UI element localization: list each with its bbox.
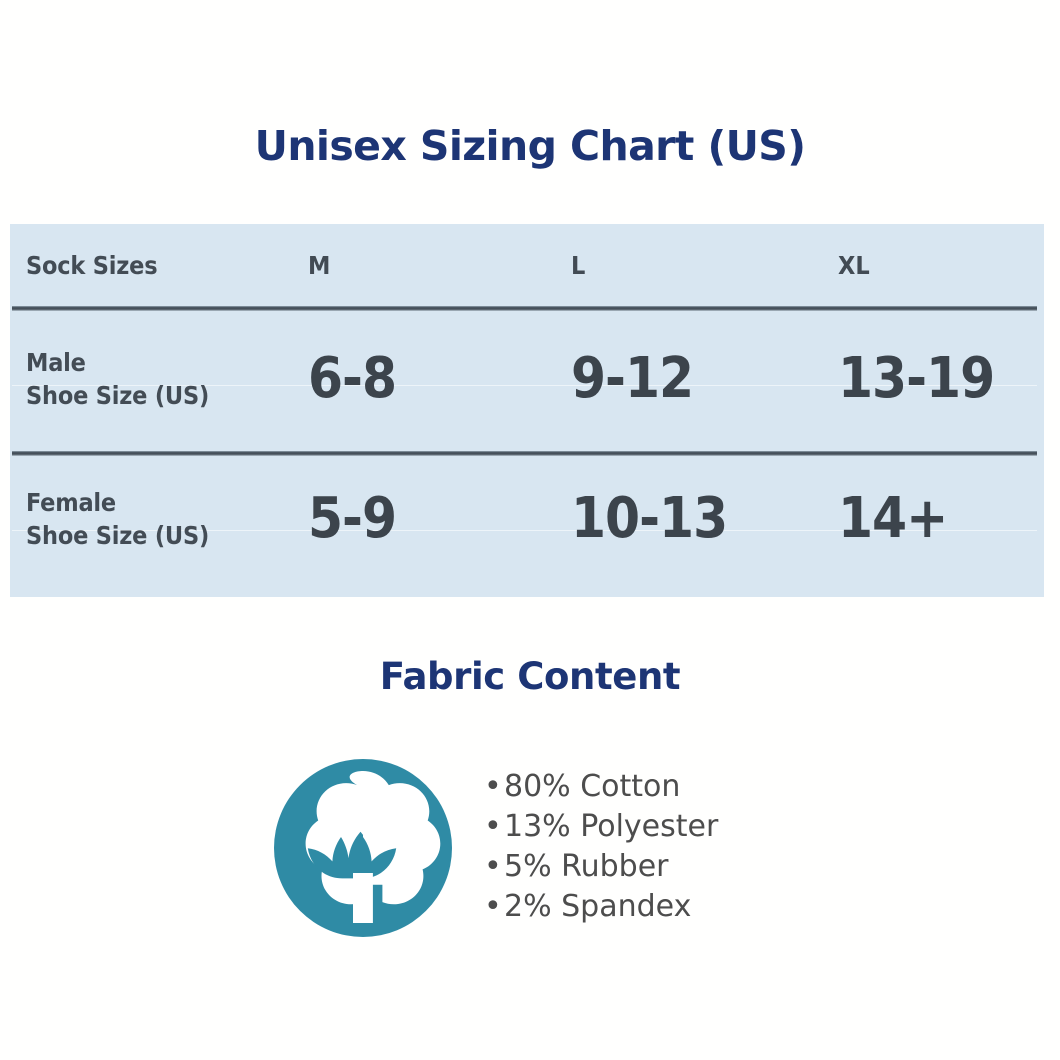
row-label-male-line2: Shoe Size (US) <box>26 379 300 412</box>
bullet-icon: • <box>484 887 504 927</box>
bullet-icon: • <box>484 807 504 847</box>
row-label-female: Female Shoe Size (US) <box>10 486 300 552</box>
bullet-icon: • <box>484 847 504 887</box>
list-item: •13% Polyester <box>484 807 718 847</box>
row-label-female-line2: Shoe Size (US) <box>26 519 300 552</box>
column-header-m: M <box>300 251 558 280</box>
column-header-l: L <box>558 251 820 280</box>
male-size-xl: 13-19 <box>820 351 1044 407</box>
fabric-content-list: •80% Cotton •13% Polyester •5% Rubber •2… <box>484 767 718 927</box>
header-label-cell: Sock Sizes <box>10 249 300 282</box>
male-size-l: 9-12 <box>558 351 820 407</box>
page-title: Unisex Sizing Chart (US) <box>0 124 1060 169</box>
sizing-table: Sock Sizes M L XL Male Shoe Size (US) 6-… <box>10 224 1044 597</box>
table-row-female: Female Shoe Size (US) 5-9 10-13 14+ <box>10 451 1044 587</box>
fabric-content-block: •80% Cotton •13% Polyester •5% Rubber •2… <box>272 757 792 942</box>
column-header-xl: XL <box>820 251 1044 280</box>
fabric-item-spandex: 2% Spandex <box>504 889 691 924</box>
female-size-m: 5-9 <box>300 491 558 547</box>
row-label-male-line1: Male <box>26 346 300 379</box>
bullet-icon: • <box>484 767 504 807</box>
male-size-m: 6-8 <box>300 351 558 407</box>
list-item: •2% Spandex <box>484 887 718 927</box>
row-label-male: Male Shoe Size (US) <box>10 346 300 412</box>
sock-sizes-label: Sock Sizes <box>26 249 300 282</box>
fabric-content-title: Fabric Content <box>0 655 1060 698</box>
female-size-l: 10-13 <box>558 491 820 547</box>
female-size-xl: 14+ <box>820 491 1044 547</box>
fabric-item-polyester: 13% Polyester <box>504 809 718 844</box>
table-header-row: Sock Sizes M L XL <box>10 224 1044 306</box>
table-row-male: Male Shoe Size (US) 6-8 9-12 13-19 <box>10 306 1044 451</box>
cotton-boll-icon <box>272 757 454 939</box>
fabric-item-cotton: 80% Cotton <box>504 769 680 804</box>
list-item: •80% Cotton <box>484 767 718 807</box>
sizing-chart-page: Unisex Sizing Chart (US) Sock Sizes M L … <box>0 0 1060 1060</box>
list-item: •5% Rubber <box>484 847 718 887</box>
fabric-item-rubber: 5% Rubber <box>504 849 669 884</box>
row-label-female-line1: Female <box>26 486 300 519</box>
